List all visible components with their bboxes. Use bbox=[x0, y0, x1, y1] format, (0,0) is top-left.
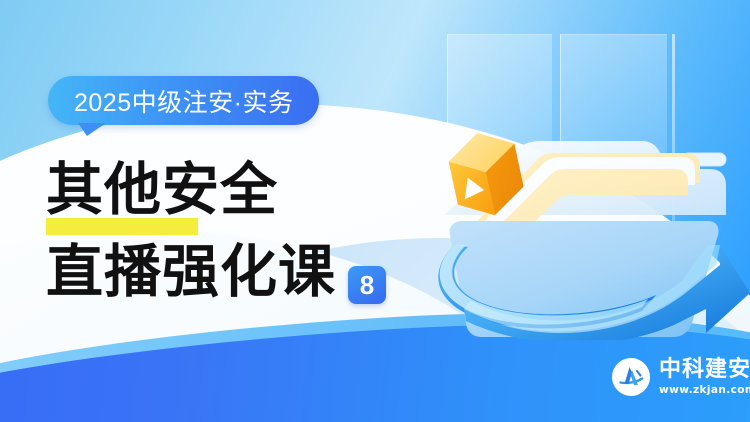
headline-line-2-row: 直播强化课 8 bbox=[46, 234, 476, 308]
course-poster: 2025中级注安·实务 其他安全 直播强化课 8 中科建安 bbox=[0, 0, 750, 422]
headline-block: 其他安全 直播强化课 8 bbox=[46, 152, 476, 308]
course-tag: 2025中级注安·实务 bbox=[48, 76, 319, 125]
headline-line-1: 其他安全 bbox=[46, 161, 278, 218]
zkjan-logo-icon bbox=[612, 358, 650, 396]
course-tag-pill: 2025中级注安·实务 bbox=[48, 76, 319, 125]
brand-logo: 中科建安 www.zkjan.com bbox=[612, 358, 750, 396]
episode-badge-number: 8 bbox=[360, 272, 374, 298]
headline-line-2: 直播强化课 bbox=[46, 243, 336, 300]
brand-name: 中科建安 bbox=[659, 359, 750, 381]
episode-badge: 8 bbox=[348, 266, 386, 304]
brand-text: 中科建安 www.zkjan.com bbox=[659, 359, 750, 396]
brand-url: www.zkjan.com bbox=[659, 385, 750, 396]
course-tag-label: 2025中级注安·实务 bbox=[74, 83, 293, 119]
headline-line-1-row: 其他安全 bbox=[46, 152, 476, 226]
speech-bubble-tail-icon bbox=[78, 123, 106, 136]
